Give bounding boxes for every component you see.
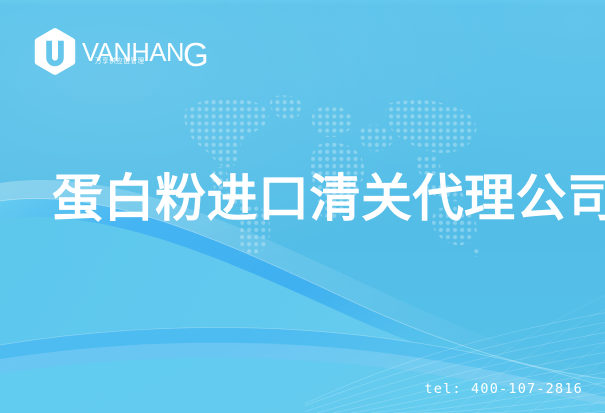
vanhang-hexagon-u-logo: [33, 27, 77, 76]
contact-phone[interactable]: tel: 400-107-2816: [424, 381, 583, 397]
brand-wordmark-group: VANHANG 万享供应链管理: [82, 29, 194, 73]
promo-banner: VANHANG 万享供应链管理 蛋白粉进口清关代理公司 tel: 400-107…: [0, 0, 605, 413]
brand-logo[interactable]: VANHANG 万享供应链管理: [33, 26, 194, 76]
brand-wordmark-g: G: [183, 36, 209, 73]
brand-subtitle: 万享供应链管理: [95, 55, 145, 65]
page-title: 蛋白粉进口清关代理公司: [52, 174, 605, 225]
